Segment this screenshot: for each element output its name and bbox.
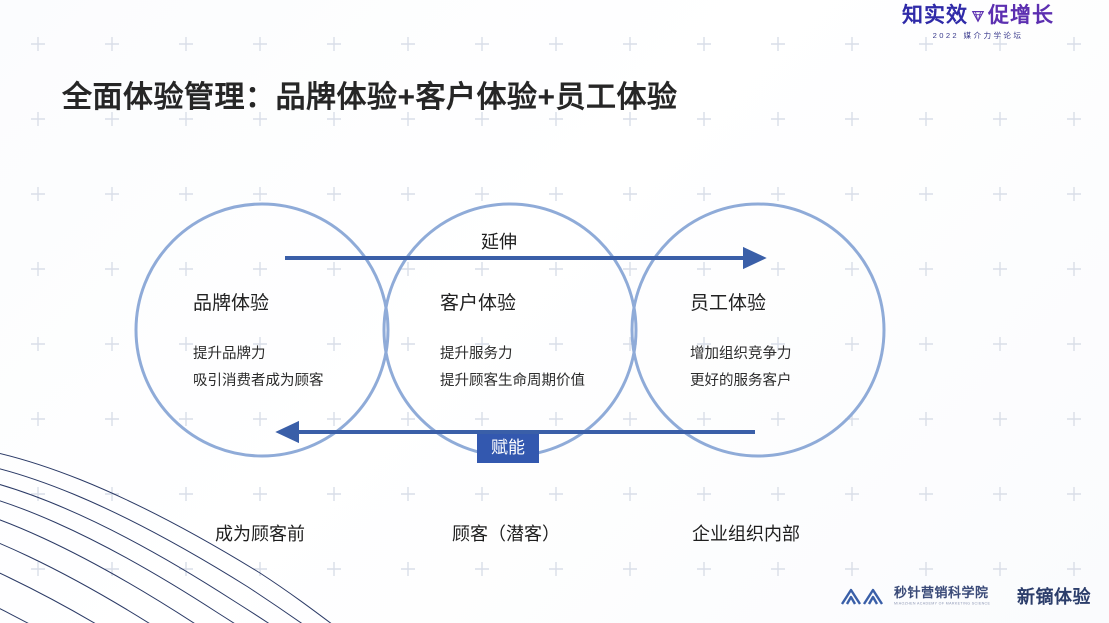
venn-text-block-brand: 品牌体验 提升品牌力 吸引消费者成为顾客 (193, 288, 324, 395)
event-logo-title-part2: 促增长 (988, 4, 1054, 27)
venn-line-employee-2: 更好的服务客户 (690, 368, 792, 395)
arrow-label-extend: 延伸 (481, 228, 517, 254)
arrow-extend-head (745, 250, 762, 266)
footer-brand-xindi: 新镝体验 (1017, 583, 1091, 609)
event-logo-title-part1: 知实效 (902, 4, 968, 27)
arrow-label-empower-badge: 赋能 (477, 434, 539, 463)
venn-line-brand-1: 提升品牌力 (193, 341, 324, 368)
event-logo-subtitle: 2022 媒介力学论坛 (869, 30, 1088, 40)
venn-text-block-employee: 员工体验 增加组织竞争力 更好的服务客户 (690, 288, 792, 395)
venn-line-customer-2: 提升顾客生命周期价值 (440, 368, 585, 395)
footer-brand-miaozhen: 秒针营销科学院 MIAOZHEN ACADEMY OF MARKETING SC… (894, 586, 1001, 605)
venn-line-customer-1: 提升服务力 (440, 341, 585, 368)
stage-label-brand: 成为顾客前 (215, 520, 305, 546)
double-chevron-mountain-icon (840, 584, 884, 608)
page-title: 全面体验管理：品牌体验+客户体验+员工体验 (62, 72, 678, 116)
footer-brand-miaozhen-cn: 秒针营销科学院 (894, 586, 1001, 600)
venn-text-block-customer: 客户体验 提升服务力 提升顾客生命周期价值 (440, 288, 585, 395)
venn-line-brand-2: 吸引消费者成为顾客 (193, 368, 324, 395)
footer-brand-miaozhen-en: MIAOZHEN ACADEMY OF MARKETING SCIENCE (894, 601, 990, 606)
stage-label-employee: 企业组织内部 (692, 520, 800, 546)
venn-heading-customer: 客户体验 (440, 288, 585, 315)
diamond-sparkle-icon (971, 9, 985, 23)
arrow-empower-head (280, 424, 297, 440)
event-logo-title: 知实效促增长 (863, 4, 1093, 28)
stage-label-customer: 顾客（潜客） (452, 520, 560, 546)
contour-lines-decoration (0, 423, 380, 623)
venn-heading-brand: 品牌体验 (193, 288, 324, 315)
venn-heading-employee: 员工体验 (690, 288, 792, 315)
footer-logos: 秒针营销科学院 MIAOZHEN ACADEMY OF MARKETING SC… (840, 583, 1091, 609)
slide-canvas: 知实效促增长 2022 媒介力学论坛 全面体验管理：品牌体验+客户体验+员工体验… (0, 0, 1109, 623)
event-logo: 知实效促增长 2022 媒介力学论坛 (863, 4, 1093, 41)
venn-line-employee-1: 增加组织竞争力 (690, 341, 792, 368)
